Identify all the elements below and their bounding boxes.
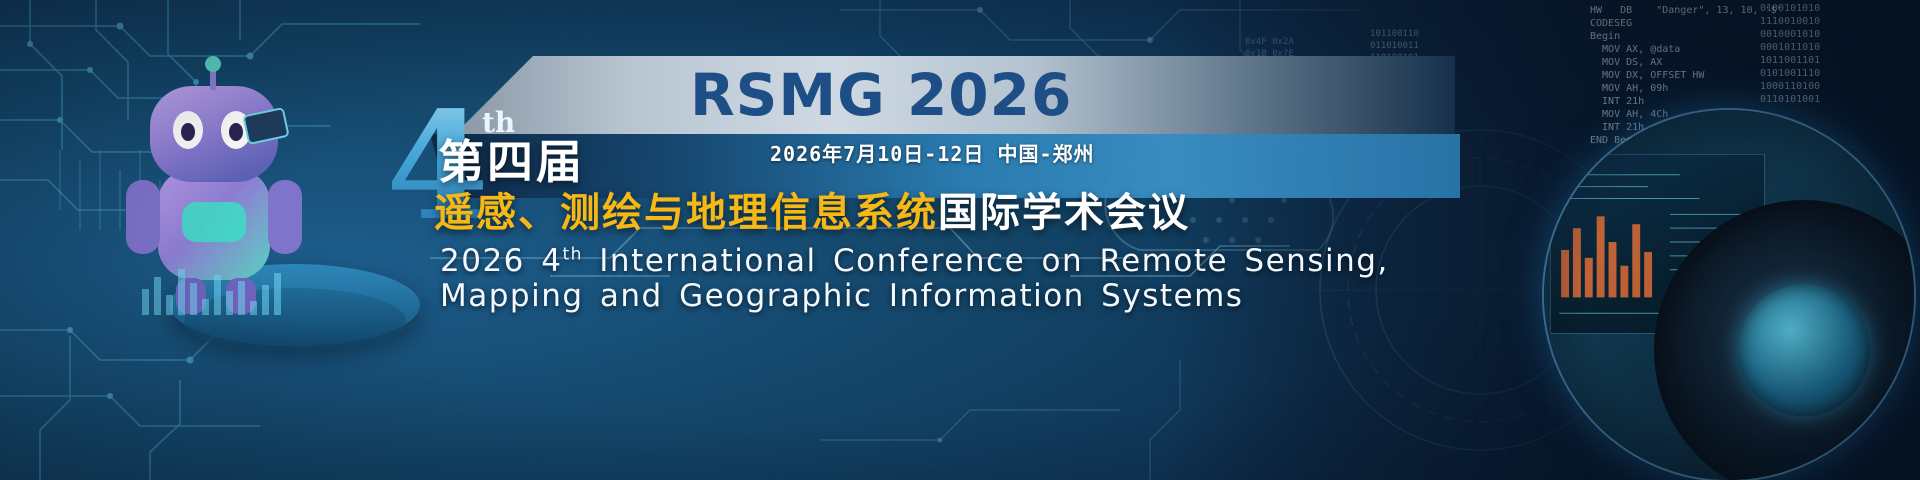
date-location-text: 2026年7月10日-12日 中国-郑州 <box>770 138 1370 167</box>
conference-acronym-title: RSMG 2026 <box>690 64 1110 126</box>
english-title-rest: International Conference on Remote Sensi… <box>583 243 1389 279</box>
english-year-ordinal: 2026 4 <box>440 243 562 279</box>
chinese-conference-title: 遥感、测绘与地理信息系统国际学术会议 <box>434 180 1190 238</box>
english-title-line-1: 2026 4th International Conference on Rem… <box>440 243 1389 279</box>
english-ordinal-suffix: th <box>562 245 582 265</box>
conference-banner: HW DB "Danger", 13, 10, '$' CODESEG Begi… <box>0 0 1920 480</box>
english-title-line-2: Mapping and Geographic Information Syste… <box>440 278 1243 314</box>
chinese-title-gold-part: 遥感、测绘与地理信息系统 <box>434 190 938 236</box>
chinese-title-white-part: 国际学术会议 <box>938 190 1190 236</box>
